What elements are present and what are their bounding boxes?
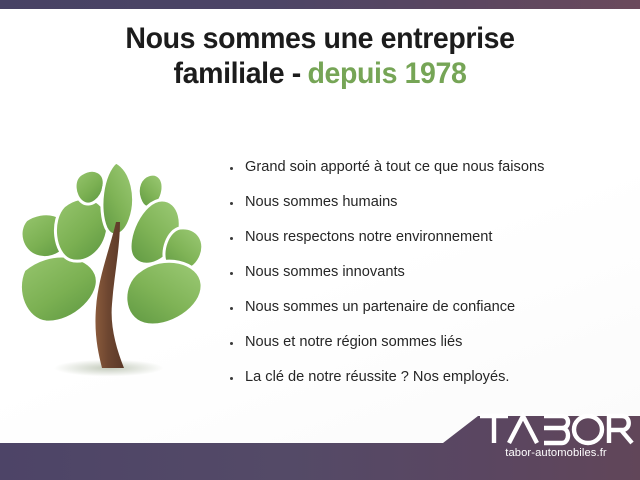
top-accent-bar <box>0 0 640 9</box>
page-title-accent: depuis 1978 <box>307 57 466 90</box>
website-url[interactable]: tabor-automobiles.fr <box>478 447 634 459</box>
list-item-label: Nous sommes un partenaire de confiance <box>245 299 515 315</box>
slide-canvas: Nous sommes une entreprise familiale -de… <box>0 0 640 480</box>
leaf-lower-left <box>20 256 97 322</box>
list-item-label: La clé de notre réussite ? Nos employés. <box>245 369 509 385</box>
list-item-label: Nous sommes humains <box>245 194 397 210</box>
list-item: La clé de notre réussite ? Nos employés. <box>228 360 628 395</box>
brand-logo[interactable]: tabor-automobiles.fr <box>478 412 634 470</box>
page-title-line2-main: familiale - <box>174 57 301 90</box>
benefits-list: Grand soin apporté à tout ce que nous fa… <box>228 150 628 395</box>
list-item: Nous respectons notre environnement <box>228 220 628 255</box>
list-item-label: Grand soin apporté à tout ce que nous fa… <box>245 159 544 175</box>
tabor-wordmark-icon <box>478 412 634 446</box>
bullet-dot-icon <box>230 237 233 240</box>
list-item: Nous sommes innovants <box>228 255 628 290</box>
list-item-label: Nous respectons notre environnement <box>245 229 492 245</box>
list-item: Nous sommes un partenaire de confiance <box>228 290 628 325</box>
bullet-dot-icon <box>230 272 233 275</box>
leaf-top-small-left <box>75 170 104 204</box>
list-item-label: Nous sommes innovants <box>245 264 405 280</box>
bullet-dot-icon <box>230 342 233 345</box>
bullet-dot-icon <box>230 307 233 310</box>
leaf-upper-left <box>55 198 108 261</box>
page-title-line2: familiale -depuis 1978 <box>16 57 624 92</box>
list-item: Grand soin apporté à tout ce que nous fa… <box>228 150 628 185</box>
list-item: Nous sommes humains <box>228 185 628 220</box>
page-title-line1: Nous sommes une entreprise <box>16 22 624 57</box>
bullet-dot-icon <box>230 202 233 205</box>
leaf-lower-right <box>126 261 202 325</box>
list-item-label: Nous et notre région sommes liés <box>245 334 462 350</box>
tree-illustration <box>12 152 217 387</box>
page-title: Nous sommes une entreprise familiale -de… <box>16 22 624 92</box>
list-item: Nous et notre région sommes liés <box>228 325 628 360</box>
bullet-dot-icon <box>230 167 233 170</box>
bullet-dot-icon <box>230 377 233 380</box>
